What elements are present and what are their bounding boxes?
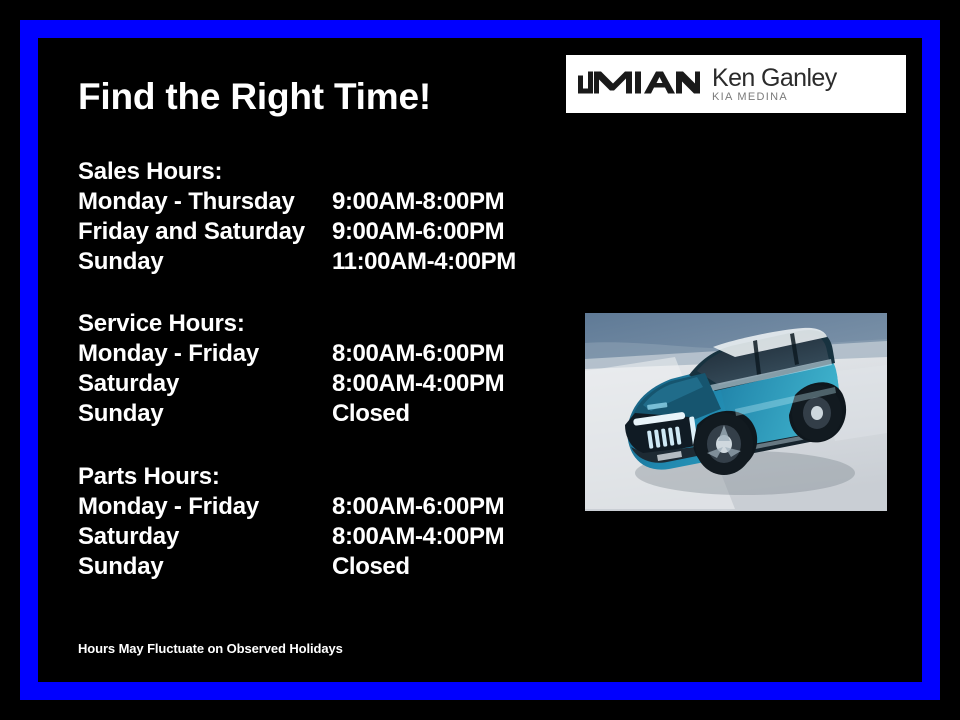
- day-label: Friday and Saturday: [78, 217, 332, 247]
- dealer-name: Ken Ganley: [712, 65, 837, 91]
- holiday-disclaimer: Hours May Fluctuate on Observed Holidays: [78, 641, 343, 656]
- hours-block-service: Service Hours: Monday - Friday 8:00AM-6:…: [78, 309, 538, 429]
- hours-row: Friday and Saturday 9:00AM-6:00PM: [78, 217, 538, 247]
- day-label: Sunday: [78, 247, 332, 277]
- dealer-subtitle: KIA MEDINA: [712, 91, 837, 104]
- time-value: Closed: [332, 399, 410, 429]
- time-value: 11:00AM-4:00PM: [332, 247, 516, 277]
- day-label: Monday - Friday: [78, 492, 332, 522]
- time-value: 9:00AM-6:00PM: [332, 217, 504, 247]
- time-value: 8:00AM-4:00PM: [332, 369, 504, 399]
- day-label: Sunday: [78, 552, 332, 582]
- hours-row: Sunday Closed: [78, 552, 538, 582]
- kia-logo-mark: [576, 67, 700, 101]
- slide-canvas: Find the Right Time! Sales Hours: Monday…: [0, 0, 960, 720]
- kia-ev9-suv-photo: [585, 313, 887, 511]
- page-title: Find the Right Time!: [78, 78, 431, 117]
- hours-row: Saturday 8:00AM-4:00PM: [78, 369, 538, 399]
- hours-row: Saturday 8:00AM-4:00PM: [78, 522, 538, 552]
- time-value: 9:00AM-8:00PM: [332, 187, 504, 217]
- time-value: 8:00AM-6:00PM: [332, 492, 504, 522]
- time-value: 8:00AM-4:00PM: [332, 522, 504, 552]
- hours-row: Sunday 11:00AM-4:00PM: [78, 247, 538, 277]
- day-label: Sunday: [78, 399, 332, 429]
- day-label: Saturday: [78, 522, 332, 552]
- dealer-logo-panel: Ken Ganley KIA MEDINA: [566, 55, 906, 113]
- day-label: Monday - Thursday: [78, 187, 332, 217]
- slide-content: Find the Right Time! Sales Hours: Monday…: [0, 0, 960, 720]
- time-value: Closed: [332, 552, 410, 582]
- hours-heading-sales: Sales Hours:: [78, 157, 538, 187]
- hours-row: Monday - Thursday 9:00AM-8:00PM: [78, 187, 538, 217]
- hours-row: Monday - Friday 8:00AM-6:00PM: [78, 492, 538, 522]
- hours-block-sales: Sales Hours: Monday - Thursday 9:00AM-8:…: [78, 157, 538, 277]
- hours-row: Sunday Closed: [78, 399, 538, 429]
- hours-heading-service: Service Hours:: [78, 309, 538, 339]
- time-value: 8:00AM-6:00PM: [332, 339, 504, 369]
- dealer-logo-text: Ken Ganley KIA MEDINA: [712, 65, 837, 104]
- day-label: Monday - Friday: [78, 339, 332, 369]
- day-label: Saturday: [78, 369, 332, 399]
- hours-row: Monday - Friday 8:00AM-6:00PM: [78, 339, 538, 369]
- hours-block-parts: Parts Hours: Monday - Friday 8:00AM-6:00…: [78, 462, 538, 582]
- hours-heading-parts: Parts Hours:: [78, 462, 538, 492]
